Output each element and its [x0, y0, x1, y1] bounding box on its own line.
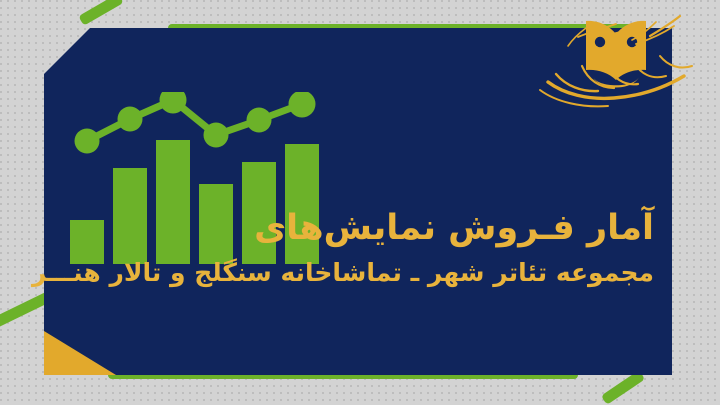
chart-markers: [75, 92, 316, 154]
page-subtitle: مجموعه تئاتر شهر ـ تماشاخانه سنگلج و تال…: [94, 255, 654, 291]
organization-logo: [530, 8, 702, 112]
promo-banner: آمار فـروش نمایش‌های مجموعه تئاتر شهر ـ …: [0, 0, 720, 405]
page-title: آمار فـروش نمایش‌های: [94, 206, 654, 251]
title-block: آمار فـروش نمایش‌های مجموعه تئاتر شهر ـ …: [94, 206, 654, 291]
